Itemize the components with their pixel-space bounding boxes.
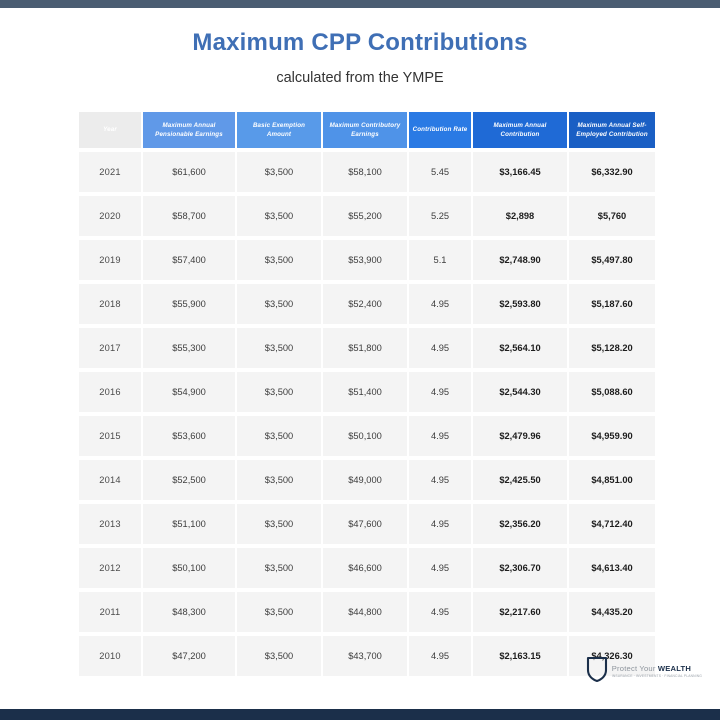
cell-year: 2014 bbox=[79, 460, 141, 500]
cell-mase: $5,128.20 bbox=[569, 328, 655, 368]
cell-mase: $4,613.40 bbox=[569, 548, 655, 588]
column-header-year: Year bbox=[79, 112, 141, 148]
cell-mape: $51,100 bbox=[143, 504, 235, 544]
cell-year: 2021 bbox=[79, 152, 141, 192]
table-row: 2015$53,600$3,500$50,1004.95$2,479.96$4,… bbox=[79, 416, 655, 456]
cell-mape: $55,900 bbox=[143, 284, 235, 324]
cell-mase: $5,088.60 bbox=[569, 372, 655, 412]
cell-mape: $50,100 bbox=[143, 548, 235, 588]
cell-rate: 4.95 bbox=[409, 460, 471, 500]
cell-rate: 4.95 bbox=[409, 328, 471, 368]
page-title: Maximum CPP Contributions bbox=[0, 29, 720, 57]
cell-bea: $3,500 bbox=[237, 504, 321, 544]
cell-bea: $3,500 bbox=[237, 592, 321, 632]
cell-mac: $2,898 bbox=[473, 196, 567, 236]
top-accent-bar bbox=[0, 0, 720, 8]
cell-mac: $3,166.45 bbox=[473, 152, 567, 192]
cell-mape: $52,500 bbox=[143, 460, 235, 500]
cell-mce: $47,600 bbox=[323, 504, 407, 544]
cell-year: 2019 bbox=[79, 240, 141, 280]
cell-rate: 4.95 bbox=[409, 416, 471, 456]
table-row: 2011$48,300$3,500$44,8004.95$2,217.60$4,… bbox=[79, 592, 655, 632]
cell-mase: $5,760 bbox=[569, 196, 655, 236]
cell-rate: 4.95 bbox=[409, 284, 471, 324]
column-header-contribution-rate: Contribution Rate bbox=[409, 112, 471, 148]
cell-bea: $3,500 bbox=[237, 372, 321, 412]
column-header-basic-exemption-amount: Basic Exemption Amount bbox=[237, 112, 321, 148]
column-header-maximum-annual-contribution: Maximum Annual Contribution bbox=[473, 112, 567, 148]
cell-bea: $3,500 bbox=[237, 548, 321, 588]
cpp-table-container: Year Maximum Annual Pensionable Earnings… bbox=[77, 108, 643, 680]
cell-year: 2010 bbox=[79, 636, 141, 676]
cell-mac: $2,217.60 bbox=[473, 592, 567, 632]
logo-text-light: Protect Your bbox=[612, 664, 658, 673]
cell-mac: $2,425.50 bbox=[473, 460, 567, 500]
cell-mase: $5,497.80 bbox=[569, 240, 655, 280]
cell-bea: $3,500 bbox=[237, 416, 321, 456]
cell-mape: $57,400 bbox=[143, 240, 235, 280]
cell-mac: $2,564.10 bbox=[473, 328, 567, 368]
cell-mac: $2,163.15 bbox=[473, 636, 567, 676]
table-row: 2013$51,100$3,500$47,6004.95$2,356.20$4,… bbox=[79, 504, 655, 544]
column-header-maximum-contributory-earnings: Maximum Contributory Earnings bbox=[323, 112, 407, 148]
cell-rate: 4.95 bbox=[409, 636, 471, 676]
cell-mape: $58,700 bbox=[143, 196, 235, 236]
cell-mape: $55,300 bbox=[143, 328, 235, 368]
cell-mce: $51,400 bbox=[323, 372, 407, 412]
brand-logo: Protect Your WEALTH INSURANCE · INVESTME… bbox=[586, 656, 702, 687]
cell-mase: $4,435.20 bbox=[569, 592, 655, 632]
logo-text-bold: WEALTH bbox=[658, 664, 691, 673]
cell-bea: $3,500 bbox=[237, 636, 321, 676]
table-row: 2019$57,400$3,500$53,9005.1$2,748.90$5,4… bbox=[79, 240, 655, 280]
cell-year: 2016 bbox=[79, 372, 141, 412]
cell-year: 2015 bbox=[79, 416, 141, 456]
cell-mce: $46,600 bbox=[323, 548, 407, 588]
table-row: 2014$52,500$3,500$49,0004.95$2,425.50$4,… bbox=[79, 460, 655, 500]
cell-mac: $2,544.30 bbox=[473, 372, 567, 412]
cell-mape: $53,600 bbox=[143, 416, 235, 456]
column-header-maximum-annual-self-employed-contribution: Maximum Annual Self-Employed Contributio… bbox=[569, 112, 655, 148]
cell-mase: $4,959.90 bbox=[569, 416, 655, 456]
cell-bea: $3,500 bbox=[237, 240, 321, 280]
cell-mce: $49,000 bbox=[323, 460, 407, 500]
cell-mape: $61,600 bbox=[143, 152, 235, 192]
cpp-contributions-table: Year Maximum Annual Pensionable Earnings… bbox=[77, 108, 657, 680]
cell-year: 2018 bbox=[79, 284, 141, 324]
cell-mac: $2,748.90 bbox=[473, 240, 567, 280]
cell-bea: $3,500 bbox=[237, 328, 321, 368]
table-row: 2017$55,300$3,500$51,8004.95$2,564.10$5,… bbox=[79, 328, 655, 368]
cell-mape: $48,300 bbox=[143, 592, 235, 632]
cell-mce: $58,100 bbox=[323, 152, 407, 192]
cell-rate: 5.45 bbox=[409, 152, 471, 192]
table-header-row: Year Maximum Annual Pensionable Earnings… bbox=[79, 112, 655, 148]
bottom-accent-bar bbox=[0, 709, 720, 720]
logo-main-line: Protect Your WEALTH bbox=[612, 665, 702, 673]
table-row: 2012$50,100$3,500$46,6004.95$2,306.70$4,… bbox=[79, 548, 655, 588]
cell-mase: $5,187.60 bbox=[569, 284, 655, 324]
table-row: 2010$47,200$3,500$43,7004.95$2,163.15$4,… bbox=[79, 636, 655, 676]
cell-rate: 4.95 bbox=[409, 548, 471, 588]
cell-mce: $44,800 bbox=[323, 592, 407, 632]
cell-year: 2011 bbox=[79, 592, 141, 632]
cell-rate: 4.95 bbox=[409, 372, 471, 412]
table-header: Year Maximum Annual Pensionable Earnings… bbox=[79, 112, 655, 148]
cell-rate: 4.95 bbox=[409, 504, 471, 544]
cell-mce: $55,200 bbox=[323, 196, 407, 236]
column-header-maximum-annual-pensionable-earnings: Maximum Annual Pensionable Earnings bbox=[143, 112, 235, 148]
cell-mce: $53,900 bbox=[323, 240, 407, 280]
logo-wordmark: Protect Your WEALTH INSURANCE · INVESTME… bbox=[612, 665, 702, 678]
page-canvas: Maximum CPP Contributions calculated fro… bbox=[0, 8, 720, 709]
cell-mac: $2,306.70 bbox=[473, 548, 567, 588]
cell-bea: $3,500 bbox=[237, 196, 321, 236]
logo-tagline: INSURANCE · INVESTMENTS · FINANCIAL PLAN… bbox=[612, 675, 702, 678]
cell-year: 2020 bbox=[79, 196, 141, 236]
cell-year: 2012 bbox=[79, 548, 141, 588]
page-subtitle: calculated from the YMPE bbox=[0, 70, 720, 86]
cell-mape: $47,200 bbox=[143, 636, 235, 676]
cell-year: 2017 bbox=[79, 328, 141, 368]
cell-mce: $52,400 bbox=[323, 284, 407, 324]
cell-mase: $4,851.00 bbox=[569, 460, 655, 500]
table-row: 2020$58,700$3,500$55,2005.25$2,898$5,760 bbox=[79, 196, 655, 236]
table-row: 2016$54,900$3,500$51,4004.95$2,544.30$5,… bbox=[79, 372, 655, 412]
table-row: 2018$55,900$3,500$52,4004.95$2,593.80$5,… bbox=[79, 284, 655, 324]
cell-mce: $43,700 bbox=[323, 636, 407, 676]
cell-mac: $2,479.96 bbox=[473, 416, 567, 456]
cell-rate: 4.95 bbox=[409, 592, 471, 632]
cell-mac: $2,356.20 bbox=[473, 504, 567, 544]
cell-mce: $50,100 bbox=[323, 416, 407, 456]
cell-bea: $3,500 bbox=[237, 460, 321, 500]
table-body: 2021$61,600$3,500$58,1005.45$3,166.45$6,… bbox=[79, 152, 655, 676]
shield-icon bbox=[586, 656, 608, 687]
table-row: 2021$61,600$3,500$58,1005.45$3,166.45$6,… bbox=[79, 152, 655, 192]
cell-mape: $54,900 bbox=[143, 372, 235, 412]
cell-mase: $6,332.90 bbox=[569, 152, 655, 192]
cell-bea: $3,500 bbox=[237, 152, 321, 192]
cell-rate: 5.25 bbox=[409, 196, 471, 236]
cell-rate: 5.1 bbox=[409, 240, 471, 280]
cell-mac: $2,593.80 bbox=[473, 284, 567, 324]
cell-bea: $3,500 bbox=[237, 284, 321, 324]
cell-mce: $51,800 bbox=[323, 328, 407, 368]
cell-mase: $4,712.40 bbox=[569, 504, 655, 544]
cell-year: 2013 bbox=[79, 504, 141, 544]
